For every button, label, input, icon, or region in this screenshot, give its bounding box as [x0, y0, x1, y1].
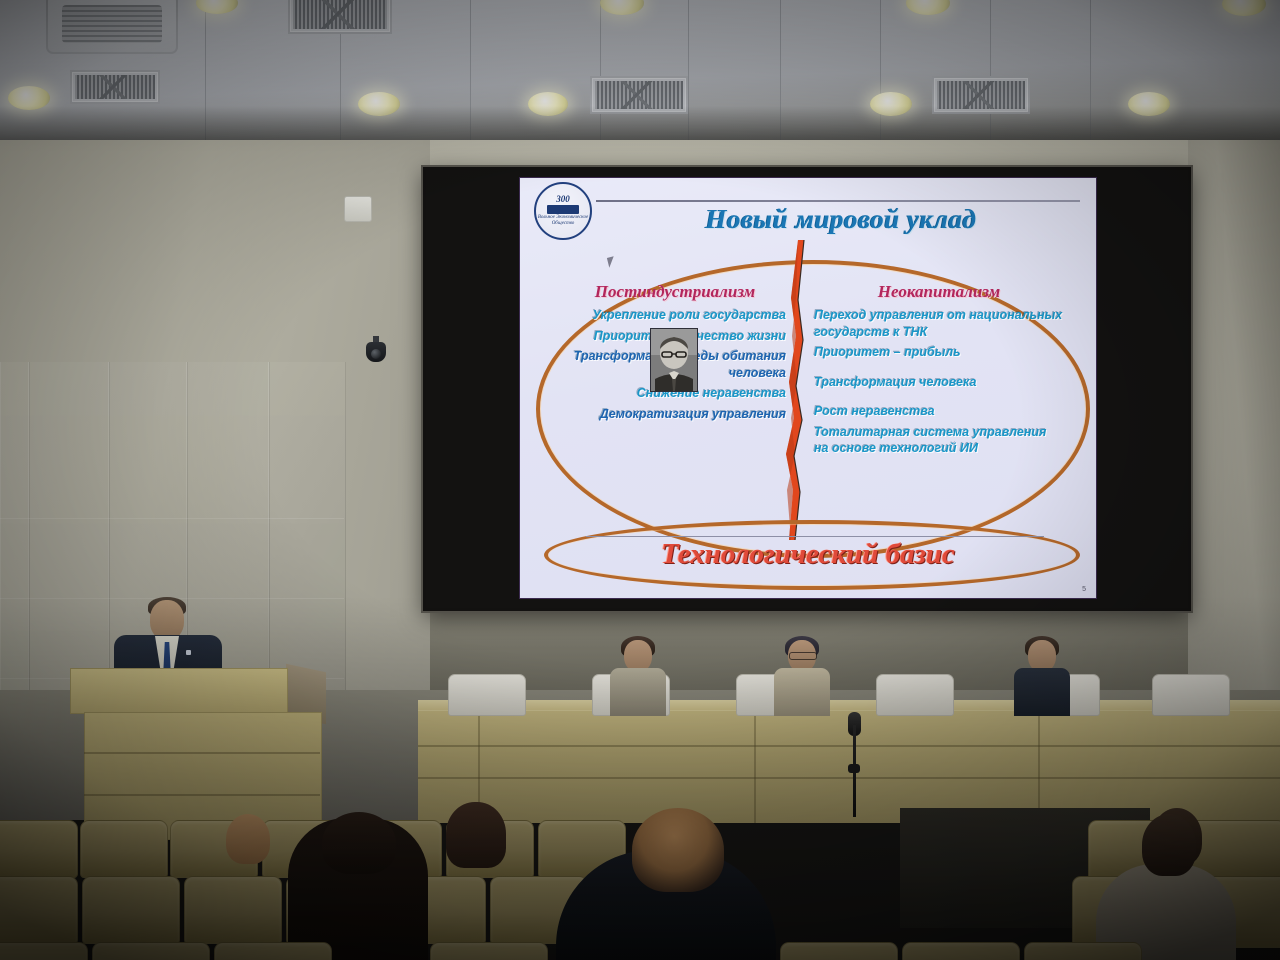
ceiling-vent	[288, 0, 392, 34]
ceiling-light	[1222, 0, 1266, 16]
audience-seat	[430, 942, 548, 960]
ceiling-light	[8, 86, 50, 110]
audience-seat	[780, 942, 898, 960]
ceiling-light	[528, 92, 568, 116]
presidium-chair	[876, 674, 954, 716]
divider-lightning-shape	[778, 240, 816, 540]
speaker-head	[150, 600, 184, 640]
audience-seat	[1024, 942, 1142, 960]
audience-seat	[214, 942, 332, 960]
slide-title: Новый мировой уклад	[596, 204, 1086, 235]
audience-head	[1142, 814, 1196, 876]
right-bullet: Трансформация человека	[814, 374, 1064, 391]
right-bullet: Переход управления от национальных госуд…	[814, 307, 1064, 340]
audience-seating	[0, 790, 1280, 960]
conference-hall-photo: 300 Вольное Экономическое Общество Новый…	[0, 0, 1280, 960]
panelist-right	[1012, 640, 1072, 716]
left-bullet: Укрепление роли государства	[564, 307, 786, 324]
mouse-cursor-icon	[607, 256, 616, 267]
right-bullet: Приоритет – прибыль	[814, 344, 1064, 361]
audience-head	[322, 812, 396, 874]
title-rule	[596, 200, 1080, 202]
logo-bar	[547, 205, 579, 214]
portrait-postindustrialism	[650, 328, 698, 392]
presentation-slide: 300 Вольное Экономическое Общество Новый…	[520, 178, 1096, 598]
ceiling	[0, 0, 1280, 152]
speaker-lapel-pin	[186, 650, 191, 655]
audience-seat	[0, 942, 88, 960]
audience-seat	[92, 942, 210, 960]
right-wall	[1188, 140, 1280, 700]
audience-head	[226, 814, 270, 864]
right-column: Неокапитализм Переход управления от наци…	[814, 282, 1064, 461]
panelist-center	[772, 640, 832, 716]
projection-screen: 300 Вольное Экономическое Общество Новый…	[423, 167, 1191, 611]
organization-logo: 300 Вольное Экономическое Общество	[534, 182, 592, 240]
audience-head	[446, 802, 506, 868]
audience-seat	[0, 820, 78, 878]
banner-text: Технологический базис	[520, 538, 1096, 571]
audience-seat	[82, 876, 180, 944]
ceiling-vent	[70, 70, 160, 104]
audience-seat	[0, 876, 78, 944]
logo-line-1: 300	[556, 195, 570, 204]
ceiling-vent	[590, 76, 688, 114]
wall-sensor-box	[344, 196, 372, 222]
ceiling-light	[1128, 92, 1170, 116]
ceiling-light	[600, 0, 644, 15]
logo-line-3: Вольное Экономическое Общество	[536, 215, 590, 227]
panelist-left	[608, 640, 668, 716]
right-bullet: Тоталитарная система управления на основ…	[814, 424, 1064, 457]
ceiling-vent	[932, 76, 1030, 114]
audience-head	[632, 808, 724, 892]
left-column-heading: Постиндустриализм	[564, 282, 786, 302]
right-bullet: Рост неравенства	[814, 403, 1064, 420]
presidium-chair	[1152, 674, 1230, 716]
security-camera-icon	[364, 336, 388, 362]
ceiling-light	[358, 92, 400, 116]
ceiling-light	[196, 0, 238, 14]
ceiling-ac-unit	[46, 0, 178, 54]
ceiling-light	[870, 92, 912, 116]
audience-seat	[184, 876, 282, 944]
banner-rule	[586, 536, 1044, 537]
slide-number: 5	[1082, 586, 1086, 593]
audience-seat	[902, 942, 1020, 960]
microphone-joint	[848, 764, 860, 773]
left-bullet: Демократизация управления	[564, 406, 786, 423]
presidium-chair	[448, 674, 526, 716]
right-column-heading: Неокапитализм	[814, 282, 1064, 302]
audience-seat	[80, 820, 168, 878]
ceiling-light	[906, 0, 950, 15]
